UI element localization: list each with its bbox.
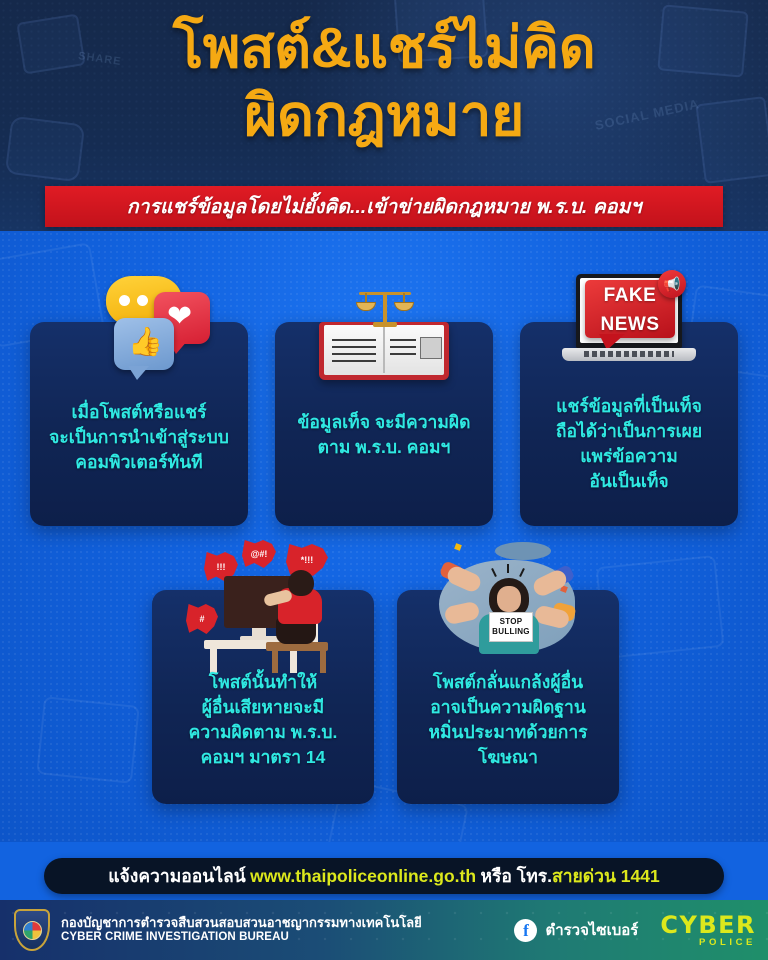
- org-name-thai: กองบัญชาการตำรวจสืบสวนสอบสวนอาชญากรรมทาง…: [61, 916, 422, 931]
- contact-prefix: แจ้งความออนไลน์: [108, 862, 245, 890]
- cyberbully-desk-icon: !!! @#! *!!! #: [180, 544, 348, 672]
- caption-line: ถือได้ว่าเป็นการเผย: [528, 419, 730, 444]
- caption-line: ข้อมูลเท็จ จะมีความผิด: [283, 410, 485, 435]
- hotline-number[interactable]: สายด่วน 1441: [552, 862, 660, 890]
- footer-section: กองบัญชาการตำรวจสืบสวนสอบสวนอาชญากรรมทาง…: [0, 900, 768, 960]
- facebook-icon[interactable]: f: [514, 919, 537, 942]
- caption-line: โพสต์นั้นทำให้: [160, 670, 366, 695]
- page-title-line1: โพสต์&แชร์ไม่คิด: [173, 16, 596, 80]
- subtitle-banner: การแชร์ข้อมูลโดยไม่ยั้งคิด...เข้าข่ายผิด…: [45, 186, 723, 227]
- angry-burst-icon: @#!: [242, 540, 276, 568]
- caption-line: อันเป็นเท็จ: [528, 469, 730, 494]
- caption-line: หมิ่นประมาทด้วยการ: [405, 720, 611, 745]
- caption-line: เมื่อโพสต์หรือแชร์: [38, 400, 240, 425]
- laptop-keyboard-icon: [584, 351, 674, 357]
- caption-line: อาจเป็นความผิดฐาน: [405, 695, 611, 720]
- fake-news-line2: NEWS: [585, 309, 675, 338]
- caption-line: โพสต์กลั่นแกล้งผู้อื่น: [405, 670, 611, 695]
- caption-line: ตาม พ.ร.บ. คอมฯ: [283, 435, 485, 460]
- confetti-shape: [454, 543, 462, 551]
- caption-line: ความผิดตาม พ.ร.บ.: [160, 720, 366, 745]
- contact-middle: หรือ โทร.: [481, 862, 553, 890]
- info-card-caption: โพสต์กลั่นแกล้งผู้อื่น อาจเป็นความผิดฐาน…: [405, 670, 611, 770]
- organization-name: กองบัญชาการตำรวจสืบสวนสอบสวนอาชญากรรมทาง…: [61, 916, 422, 943]
- decorative-frame: [36, 696, 140, 784]
- info-card-caption: โพสต์นั้นทำให้ ผู้อื่นเสียหายจะมี ความผิ…: [160, 670, 366, 770]
- contact-bar[interactable]: แจ้งความออนไลน์ www.thaipoliceonline.go.…: [44, 858, 724, 894]
- caption-line: คอมพิวเตอร์ทันที: [38, 450, 240, 475]
- scales-of-justice-icon: [359, 280, 411, 328]
- page-title-line2: ผิดกฎหมาย: [0, 82, 768, 150]
- stop-bullying-sign: STOP BULLING: [489, 612, 533, 642]
- info-card-post-share-system: ❤ 👍 เมื่อโพสต์หรือแชร์ จะเป็นการนำเข้าสู…: [30, 322, 248, 526]
- angry-burst-icon: #: [186, 604, 218, 634]
- person-face: [497, 586, 521, 612]
- info-card-false-info-offence: ข้อมูลเท็จ จะมีความผิด ตาม พ.ร.บ. คอมฯ: [275, 322, 493, 526]
- social-bubbles-icon: ❤ 👍: [80, 274, 210, 386]
- info-card-caption: แชร์ข้อมูลที่เป็นเท็จ ถือได้ว่าเป็นการเผ…: [528, 394, 730, 494]
- facebook-link[interactable]: f ตำรวจไซเบอร์: [514, 918, 638, 942]
- law-book-scales-icon: [319, 280, 449, 390]
- cyber-police-logo-line1: CYBER: [660, 913, 756, 937]
- facebook-page-name: ตำรวจไซเบอร์: [545, 918, 638, 942]
- cyber-police-logo-line2: POLICE: [660, 938, 756, 948]
- thumbs-up-bubble-icon: 👍: [114, 318, 174, 370]
- caption-line: แพร่ข้อความ: [528, 444, 730, 469]
- caption-line: โฆษณา: [405, 745, 611, 770]
- caption-line: คอมฯ มาตรา 14: [160, 745, 366, 770]
- info-card-damage-section-14: !!! @#! *!!! # โพสต์นั้นทำให้ ผู้อื่นเสี…: [152, 590, 374, 804]
- info-card-share-fake-news: FAKE NEWS 📢 แชร์ข้อมูลที่เป็นเท็จ ถือได้…: [520, 322, 738, 526]
- cyber-police-logo: CYBER POLICE: [660, 913, 756, 948]
- caption-line: แชร์ข้อมูลที่เป็นเท็จ: [528, 394, 730, 419]
- header-section: SOCIAL MEDIA SHARE โพสต์&แชร์ไม่คิด ผิดก…: [0, 0, 768, 231]
- org-name-english: CYBER CRIME INVESTIGATION BUREAU: [61, 931, 422, 944]
- caption-line: ผู้อื่นเสียหายจะมี: [160, 695, 366, 720]
- info-card-caption: เมื่อโพสต์หรือแชร์ จะเป็นการนำเข้าสู่ระบ…: [38, 400, 240, 475]
- stop-bullying-icon: STOP BULLING: [433, 542, 583, 670]
- subtitle-banner-text: การแชร์ข้อมูลโดยไม่ยั้งคิด...เข้าข่ายผิด…: [127, 191, 642, 222]
- halo-shape: [495, 542, 551, 560]
- sign-line2: BULLING: [492, 627, 530, 637]
- law-book-icon: [319, 322, 449, 380]
- sign-line1: STOP: [500, 617, 523, 627]
- caption-line: จะเป็นการนำเข้าสู่ระบบ: [38, 425, 240, 450]
- report-website-link[interactable]: www.thaipoliceonline.go.th: [250, 866, 476, 887]
- page-title: โพสต์&แชร์ไม่คิด ผิดกฎหมาย: [0, 14, 768, 150]
- info-card-bullying-defamation: STOP BULLING โพสต์กลั่นแกล้งผู้อื่น อาจเ…: [397, 590, 619, 804]
- info-card-caption: ข้อมูลเท็จ จะมีความผิด ตาม พ.ร.บ. คอมฯ: [283, 410, 485, 460]
- megaphone-icon: 📢: [658, 270, 686, 298]
- laptop-fake-news-icon: FAKE NEWS 📢: [558, 274, 700, 390]
